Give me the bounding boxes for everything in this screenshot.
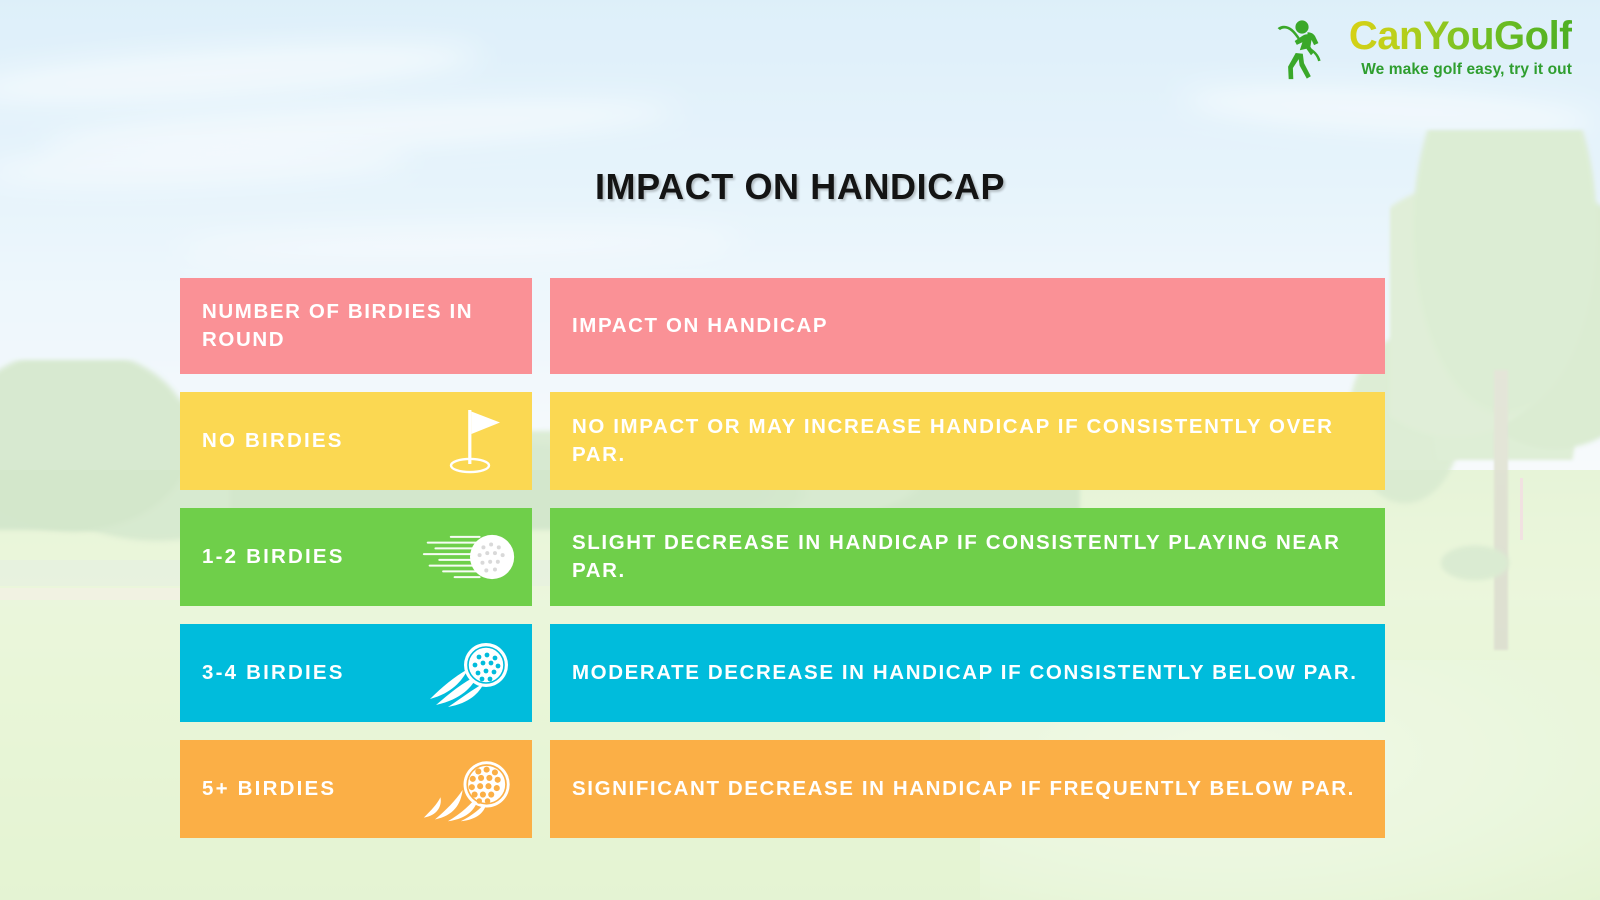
row-label: 1-2 BIRDIES bbox=[202, 543, 345, 571]
flaming-golf-ball-icon bbox=[422, 750, 518, 828]
brand-name: CanYouGolf bbox=[1349, 16, 1572, 56]
table-row: 3-4 BIRDIES bbox=[180, 624, 1385, 722]
row-label: 3-4 BIRDIES bbox=[202, 659, 345, 687]
row-impact-cell: NO IMPACT OR MAY INCREASE HANDICAP IF CO… bbox=[550, 392, 1385, 490]
row-impact-cell: SIGNIFICANT DECREASE IN HANDICAP IF FREQ… bbox=[550, 740, 1385, 838]
row-label-cell: NO BIRDIES bbox=[180, 392, 532, 490]
row-impact-cell: SLIGHT DECREASE IN HANDICAP IF CONSISTEN… bbox=[550, 508, 1385, 606]
golf-flag-in-hole-icon bbox=[422, 402, 518, 480]
row-impact-text: SLIGHT DECREASE IN HANDICAP IF CONSISTEN… bbox=[572, 529, 1363, 586]
table-row: 1-2 BIRDIES bbox=[180, 508, 1385, 606]
row-impact-text: NO IMPACT OR MAY INCREASE HANDICAP IF CO… bbox=[572, 413, 1363, 470]
header-label-impact: IMPACT ON HANDICAP bbox=[572, 312, 828, 340]
row-label-cell: 5+ BIRDIES bbox=[180, 740, 532, 838]
table-row: 5+ BIRDIES bbox=[180, 740, 1385, 838]
table-row: NO BIRDIES NO IMPACT OR MAY INCREASE HAN… bbox=[180, 392, 1385, 490]
golf-ball-speed-lines-icon bbox=[422, 518, 518, 596]
brand-logo[interactable]: CanYouGolf We make golf easy, try it out bbox=[1273, 16, 1572, 84]
header-cell-impact: IMPACT ON HANDICAP bbox=[550, 278, 1385, 374]
row-impact-text: MODERATE DECREASE IN HANDICAP IF CONSIST… bbox=[572, 659, 1358, 687]
row-label-cell: 3-4 BIRDIES bbox=[180, 624, 532, 722]
golfer-swing-icon bbox=[1273, 18, 1335, 84]
page-title: IMPACT ON HANDICAP bbox=[0, 166, 1600, 208]
row-label: 5+ BIRDIES bbox=[202, 775, 336, 803]
table-header-row: NUMBER OF BIRDIES IN ROUND IMPACT ON HAN… bbox=[180, 278, 1385, 374]
row-label: NO BIRDIES bbox=[202, 427, 344, 455]
row-label-cell: 1-2 BIRDIES bbox=[180, 508, 532, 606]
header-label-birdies: NUMBER OF BIRDIES IN ROUND bbox=[202, 298, 510, 355]
impact-table: NUMBER OF BIRDIES IN ROUND IMPACT ON HAN… bbox=[180, 278, 1385, 838]
row-impact-cell: MODERATE DECREASE IN HANDICAP IF CONSIST… bbox=[550, 624, 1385, 722]
golf-ball-motion-trail-icon bbox=[422, 634, 518, 712]
row-impact-text: SIGNIFICANT DECREASE IN HANDICAP IF FREQ… bbox=[572, 775, 1355, 803]
header-cell-birdies: NUMBER OF BIRDIES IN ROUND bbox=[180, 278, 532, 374]
brand-tagline: We make golf easy, try it out bbox=[1361, 61, 1572, 79]
